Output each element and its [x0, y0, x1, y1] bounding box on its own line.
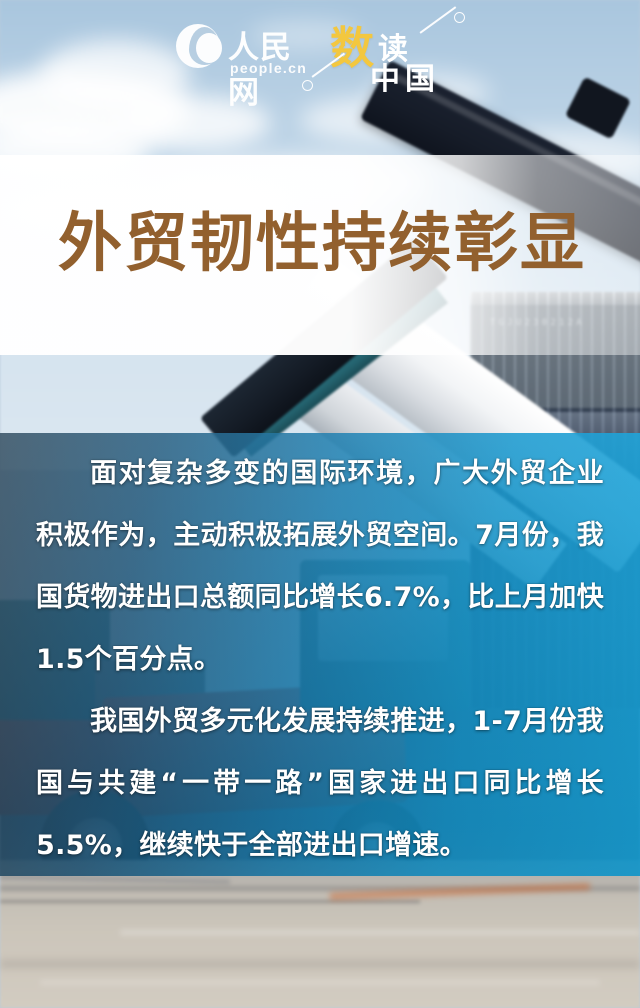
paragraph: 我国外贸多元化发展持续推进，1-7月份我国与共建“一带一路”国家进出口同比增长5… — [36, 691, 604, 877]
shudu-zhongguo-logo[interactable]: 数 读 中国 — [330, 10, 490, 90]
body-copy: 面对复杂多变的国际环境，广大外贸企业积极作为，主动积极拓展外贸空间。7月份，我国… — [36, 443, 604, 877]
network-node-dot-icon — [302, 80, 313, 91]
network-node-dot-icon — [454, 12, 465, 23]
poster-header: 人民网 people.cn 数 读 中国 — [0, 0, 640, 96]
ground-streak — [120, 930, 640, 935]
ground-streak — [0, 960, 640, 968]
shudu-zhongguo-line2: 中国 — [370, 54, 440, 98]
page-title: 外贸韧性持续彰显 — [58, 212, 618, 276]
poster-root: TGJU230212A KIM — [0, 0, 640, 1008]
people-cn-logo[interactable]: 人民网 people.cn — [176, 22, 316, 78]
paragraph: 面对复杂多变的国际环境，广大外贸企业积极作为，主动积极拓展外贸空间。7月份，我国… — [36, 443, 604, 691]
people-cn-logo-english: people.cn — [230, 60, 307, 76]
ground-streak — [40, 980, 600, 985]
people-cn-crescent-logo-icon — [176, 24, 220, 68]
ground-streak — [0, 900, 420, 903]
network-node-line-icon — [420, 6, 457, 33]
shudu-char-shu: 数 — [330, 12, 374, 76]
